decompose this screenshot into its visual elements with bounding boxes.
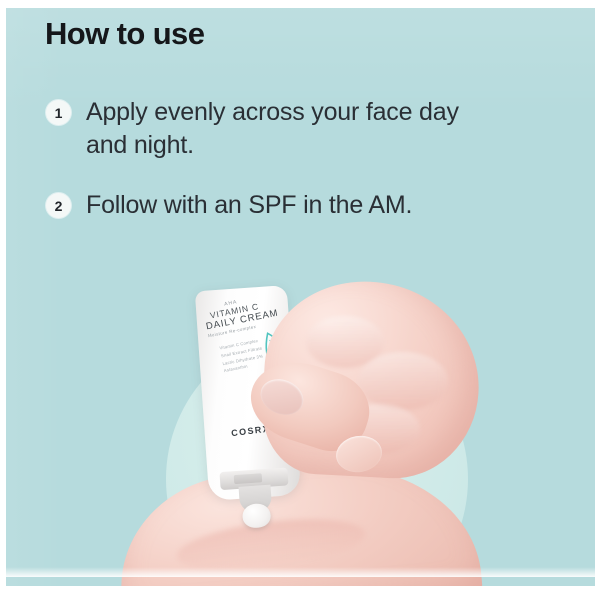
- content-panel: How to use 1 Apply evenly across your fa…: [6, 8, 595, 589]
- product-photo: AHA VITAMIN C DAILY CREAM Moisture Re-co…: [6, 254, 595, 589]
- step-number-badge: 1: [46, 100, 71, 125]
- list-item: 2 Follow with an SPF in the AM.: [46, 189, 546, 222]
- page-title: How to use: [45, 16, 204, 52]
- knuckle-highlight: [358, 352, 448, 410]
- list-item: 1 Apply evenly across your face day and …: [46, 96, 546, 161]
- infographic-canvas: How to use 1 Apply evenly across your fa…: [0, 0, 600, 600]
- step-number-badge: 2: [46, 193, 71, 218]
- steps-list: 1 Apply evenly across your face day and …: [46, 96, 546, 250]
- bottom-white-band: [0, 586, 600, 600]
- step-text: Follow with an SPF in the AM.: [86, 189, 412, 222]
- step-text: Apply evenly across your face day and ni…: [86, 96, 506, 161]
- bottom-fade: [6, 567, 595, 577]
